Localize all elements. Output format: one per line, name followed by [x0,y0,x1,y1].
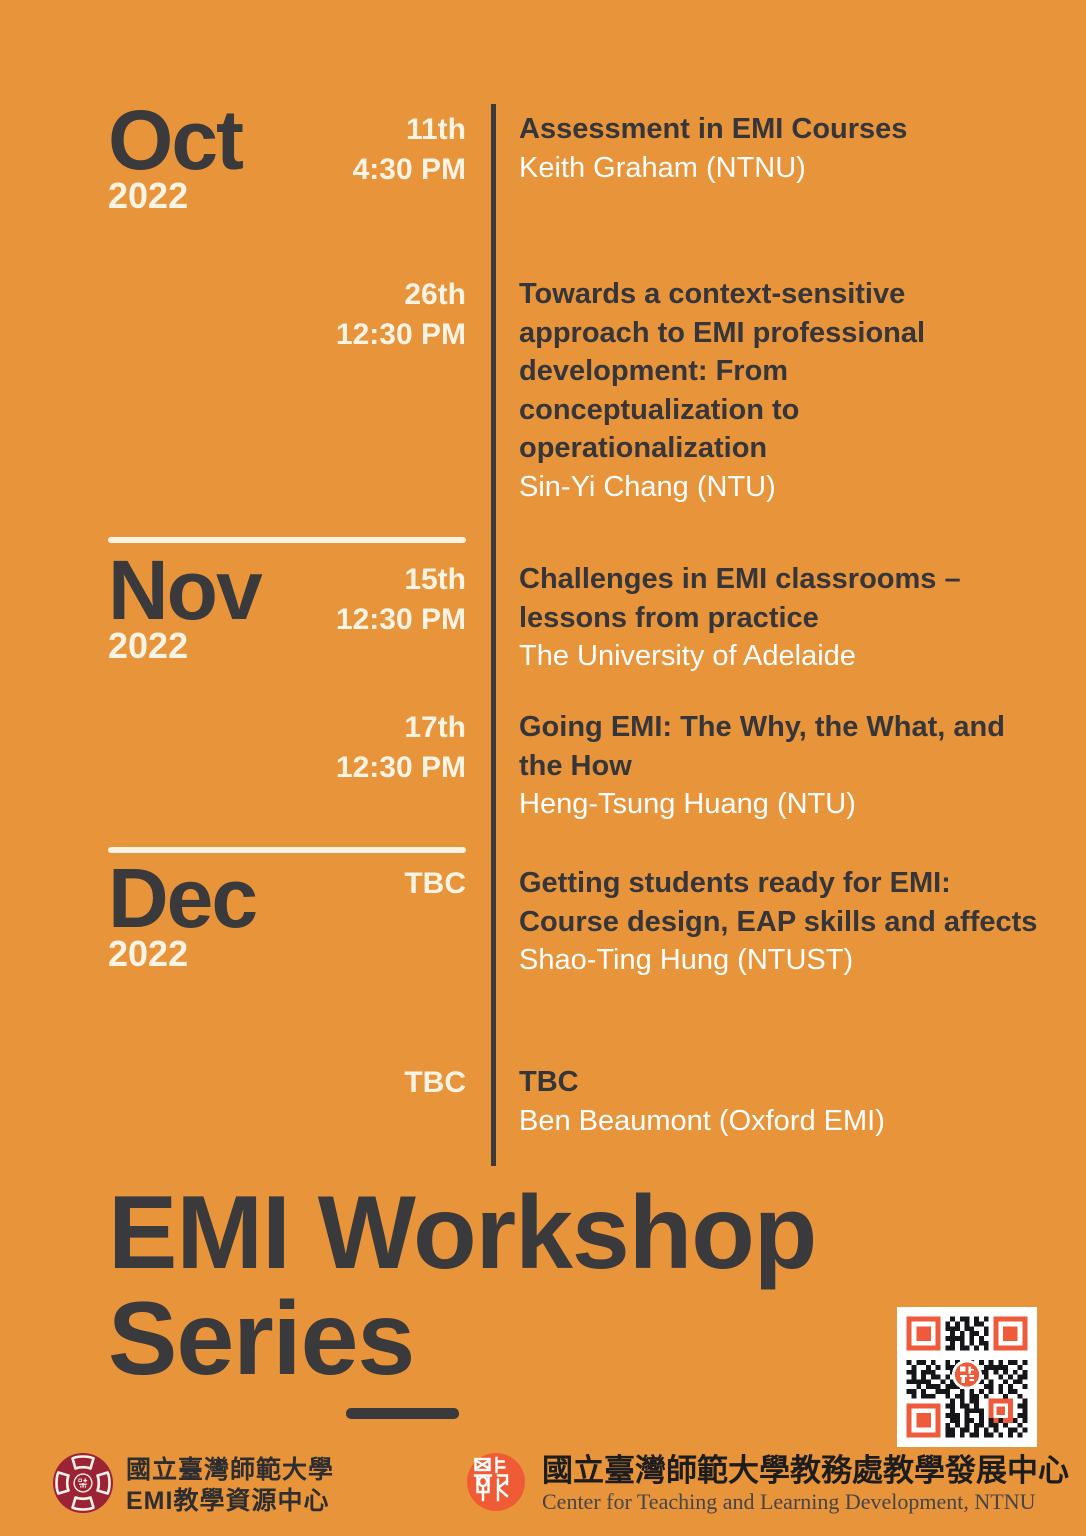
event-body: Going EMI: The Why, the What, and the Ho… [519,708,1039,824]
event-title: Going EMI: The Why, the What, and the Ho… [519,708,1039,785]
poster-canvas: Oct 2022 11th 4:30 PM Assessment in EMI … [0,0,1086,1536]
event-time: 12:30 PM [120,748,466,788]
logo-ctld-ntnu: 國立臺灣師範大學教務處教學發展中心 Center for Teaching an… [462,1448,1069,1521]
headline-line-1: EMI Workshop [108,1180,1008,1286]
ntnu-seal-icon [52,1452,114,1519]
event-when: 17th 12:30 PM [120,708,466,788]
logo-line-cn: 國立臺灣師範大學教務處教學發展中心 [542,1454,1069,1489]
event-when: TBC [120,864,466,904]
ctld-seal-icon [462,1448,530,1521]
event-body: Assessment in EMI Courses Keith Graham (… [519,110,1039,187]
event-day: 11th [120,110,466,150]
poster-headline: EMI Workshop Series [108,1180,1008,1392]
event-speaker: Heng-Tsung Huang (NTU) [519,785,1039,824]
logo-line-2: EMI教學資源中心 [126,1486,334,1517]
event-title: Getting students ready for EMI: Course d… [519,864,1039,941]
event-time: 12:30 PM [120,600,466,640]
vertical-divider [491,104,496,1166]
event-body: Getting students ready for EMI: Course d… [519,864,1039,980]
event-body: Challenges in EMI classrooms – lessons f… [519,560,1039,676]
event-title: Towards a context-sensitive approach to … [519,275,1039,468]
event-speaker: Ben Beaumont (Oxford EMI) [519,1102,1039,1141]
logo-line-1: 國立臺灣師範大學 [126,1455,334,1486]
event-title: Challenges in EMI classrooms – lessons f… [519,560,1039,637]
headline-accent-rule [346,1408,459,1419]
event-title: Assessment in EMI Courses [519,110,1039,149]
footer-logos: 國立臺灣師範大學 EMI教學資源中心 [0,1446,1086,1536]
event-when: TBC [120,1063,466,1103]
event-speaker: Shao-Ting Hung (NTUST) [519,941,1039,980]
logo-ntnu-emi: 國立臺灣師範大學 EMI教學資源中心 [52,1452,334,1519]
event-when: 26th 12:30 PM [120,275,466,355]
event-day: 26th [120,275,466,315]
event-title: TBC [519,1063,1039,1102]
event-speaker: Sin-Yi Chang (NTU) [519,468,1039,507]
event-day: 15th [120,560,466,600]
qr-code-icon [897,1307,1037,1447]
event-when: 11th 4:30 PM [120,110,466,190]
qr-code[interactable] [897,1307,1037,1447]
event-time: 12:30 PM [120,315,466,355]
event-speaker: Keith Graham (NTNU) [519,149,1039,188]
event-day: TBC [120,1063,466,1103]
event-body: Towards a context-sensitive approach to … [519,275,1039,506]
logo-ctld-text: 國立臺灣師範大學教務處教學發展中心 Center for Teaching an… [542,1454,1069,1515]
event-body: TBC Ben Beaumont (Oxford EMI) [519,1063,1039,1140]
event-day: TBC [120,864,466,904]
event-day: 17th [120,708,466,748]
event-time: 4:30 PM [120,150,466,190]
logo-ntnu-emi-text: 國立臺灣師範大學 EMI教學資源中心 [126,1455,334,1516]
event-speaker: The University of Adelaide [519,637,1039,676]
logo-line-en: Center for Teaching and Learning Develop… [542,1489,1069,1515]
headline-line-2: Series [108,1286,1008,1392]
event-when: 15th 12:30 PM [120,560,466,640]
